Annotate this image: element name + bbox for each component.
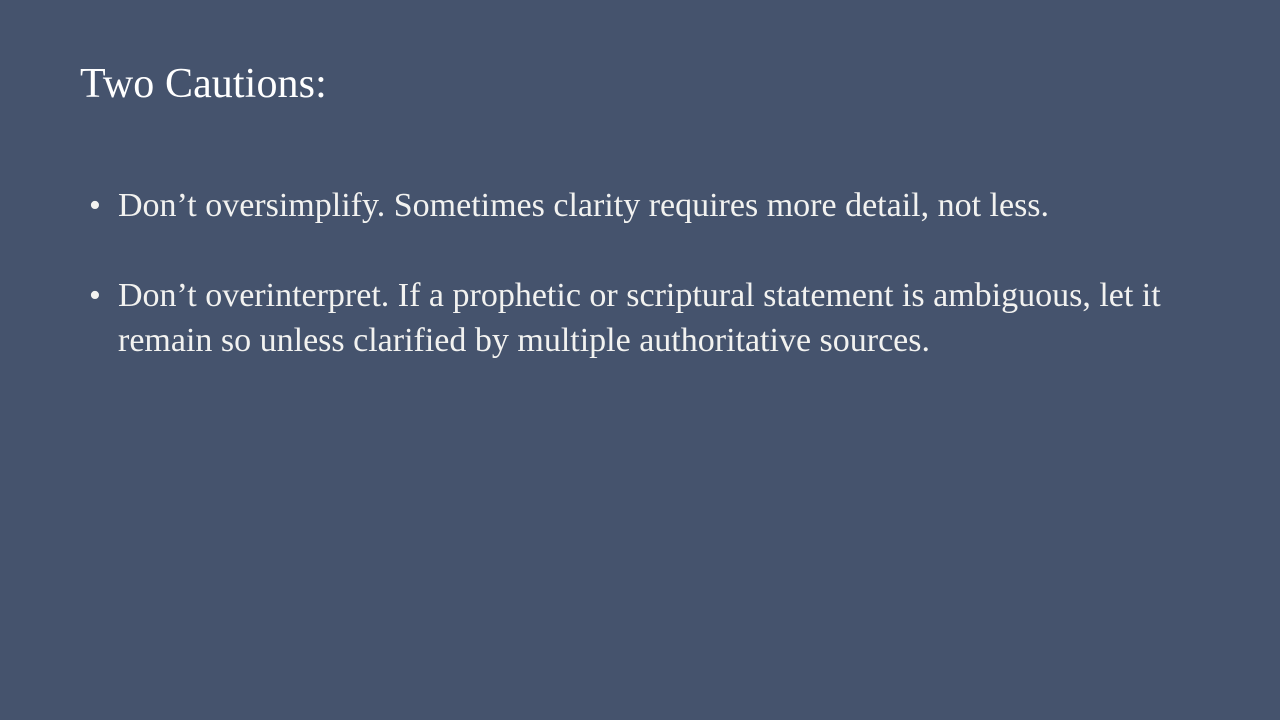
page-title: Two Cautions: bbox=[80, 58, 1200, 110]
bullet-list: • Don’t oversimplify. Sometimes clarity … bbox=[80, 183, 1190, 363]
list-item-text: Don’t overinterpret. If a prophetic or s… bbox=[118, 273, 1190, 363]
presentation-slide: Two Cautions: • Don’t oversimplify. Some… bbox=[0, 0, 1280, 720]
list-item: • Don’t overinterpret. If a prophetic or… bbox=[80, 273, 1190, 363]
bullet-point-icon: • bbox=[89, 273, 109, 318]
slide-body: • Don’t oversimplify. Sometimes clarity … bbox=[80, 183, 1190, 363]
list-item: • Don’t oversimplify. Sometimes clarity … bbox=[80, 183, 1190, 228]
bullet-point-icon: • bbox=[89, 183, 109, 228]
list-item-text: Don’t oversimplify. Sometimes clarity re… bbox=[118, 183, 1190, 228]
